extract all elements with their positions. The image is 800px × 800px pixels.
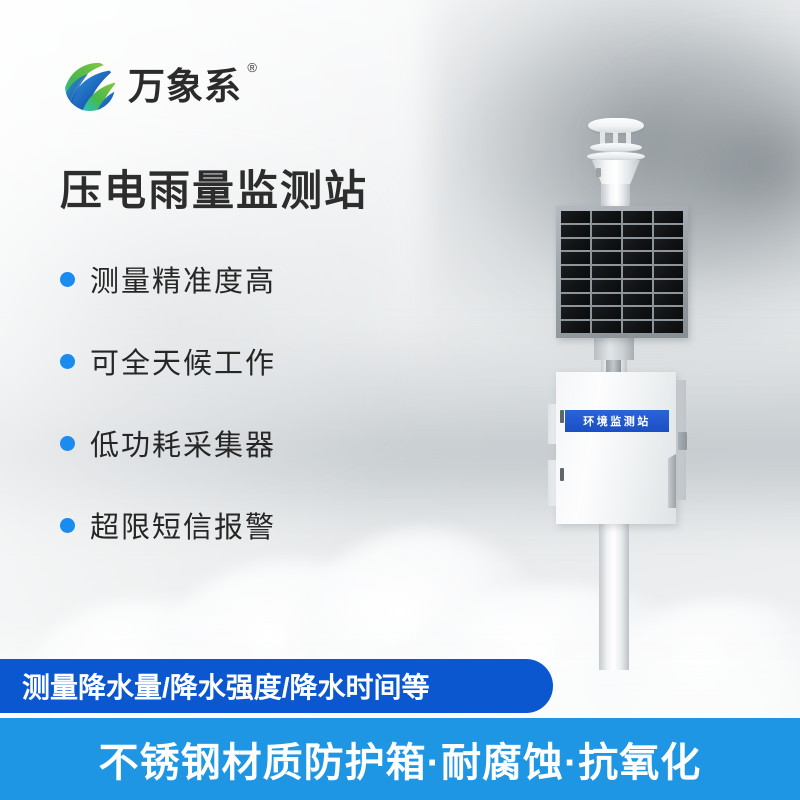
solar-cell [592, 239, 621, 251]
list-item: 超限短信报警 [60, 504, 276, 546]
solar-cell [561, 294, 590, 306]
list-item: 低功耗采集器 [60, 422, 276, 464]
enclosure-clip [560, 468, 564, 481]
panel-mount-bracket [594, 338, 634, 360]
rain-gauge-louver-ring [587, 152, 645, 161]
rain-gauge-screw [596, 168, 601, 177]
solar-cell [592, 280, 621, 292]
solar-cell [654, 211, 683, 223]
solar-cell [592, 225, 621, 237]
solar-cell [654, 239, 683, 251]
solar-cell [654, 252, 683, 264]
solar-cell [561, 211, 590, 223]
feature-label: 低功耗采集器 [90, 422, 276, 464]
solar-cell [654, 321, 683, 333]
solar-cell [561, 252, 590, 264]
feature-label: 测量精准度高 [90, 258, 276, 300]
brand-logo: 万象系 ® [62, 58, 242, 114]
enclosure-box [556, 372, 676, 524]
solar-cell [623, 280, 652, 292]
enclosure-hinge [668, 454, 676, 508]
solar-cell [561, 280, 590, 292]
brand-name: 万象系 ® [128, 68, 242, 105]
solar-panel-cell-grid [561, 211, 683, 333]
solar-cell [654, 280, 683, 292]
solar-cell [623, 252, 652, 264]
blue-dot-icon [60, 436, 75, 451]
blue-dot-icon [60, 518, 75, 533]
solar-panel [556, 206, 688, 338]
enclosure-clip [560, 410, 564, 423]
rain-gauge-louver-ring [590, 143, 642, 152]
solar-cell [623, 266, 652, 278]
rain-gauge-cap-icon [588, 118, 644, 133]
solar-cell [654, 307, 683, 319]
feature-list: 测量精准度高 可全天候工作 低功耗采集器 超限短信报警 [60, 258, 276, 546]
solar-cell [623, 225, 652, 237]
registered-trademark-icon: ® [247, 61, 258, 74]
solar-cell [654, 225, 683, 237]
product-poster: 环境监测站 [0, 0, 800, 800]
solar-cell [561, 321, 590, 333]
solar-cell [561, 307, 590, 319]
solar-cell [592, 211, 621, 223]
rain-gauge-neck [602, 184, 630, 208]
feature-label: 超限短信报警 [90, 504, 276, 546]
enclosure-nameplate: 环境监测站 [565, 410, 669, 432]
enclosure-latch [678, 432, 687, 450]
solar-cell [592, 266, 621, 278]
rain-gauge-post [626, 132, 631, 144]
solar-cell [623, 294, 652, 306]
globe-swirl-logo-icon [62, 58, 118, 114]
solar-cell [561, 266, 590, 278]
list-item: 可全天候工作 [60, 340, 276, 382]
solar-cell [623, 211, 652, 223]
material-highlight-banner: 不锈钢材质防护箱·耐腐蚀·抗氧化 [0, 718, 800, 800]
solar-cell [623, 321, 652, 333]
measurement-capability-banner: 测量降水量/降水强度/降水时间等 [0, 659, 553, 713]
solar-cell [592, 307, 621, 319]
enclosure-nameplate-text: 环境监测站 [583, 413, 651, 429]
rain-gauge-post [600, 132, 605, 144]
solar-cell [654, 294, 683, 306]
solar-cell [592, 294, 621, 306]
feature-label: 可全天候工作 [90, 340, 276, 382]
solar-cell [623, 239, 652, 251]
solar-cell [561, 239, 590, 251]
measurement-capability-text: 测量降水量/降水强度/降水时间等 [22, 666, 430, 706]
solar-cell [654, 266, 683, 278]
solar-cell [592, 321, 621, 333]
blue-dot-icon [60, 272, 75, 287]
blue-dot-icon [60, 354, 75, 369]
brand-name-text: 万象系 [128, 66, 242, 107]
solar-cell [623, 307, 652, 319]
page-title: 压电雨量监测站 [60, 168, 368, 214]
material-highlight-text: 不锈钢材质防护箱·耐腐蚀·抗氧化 [99, 730, 702, 788]
solar-cell [561, 225, 590, 237]
mast-pole-lower [599, 520, 629, 670]
list-item: 测量精准度高 [60, 258, 276, 300]
solar-cell [592, 252, 621, 264]
